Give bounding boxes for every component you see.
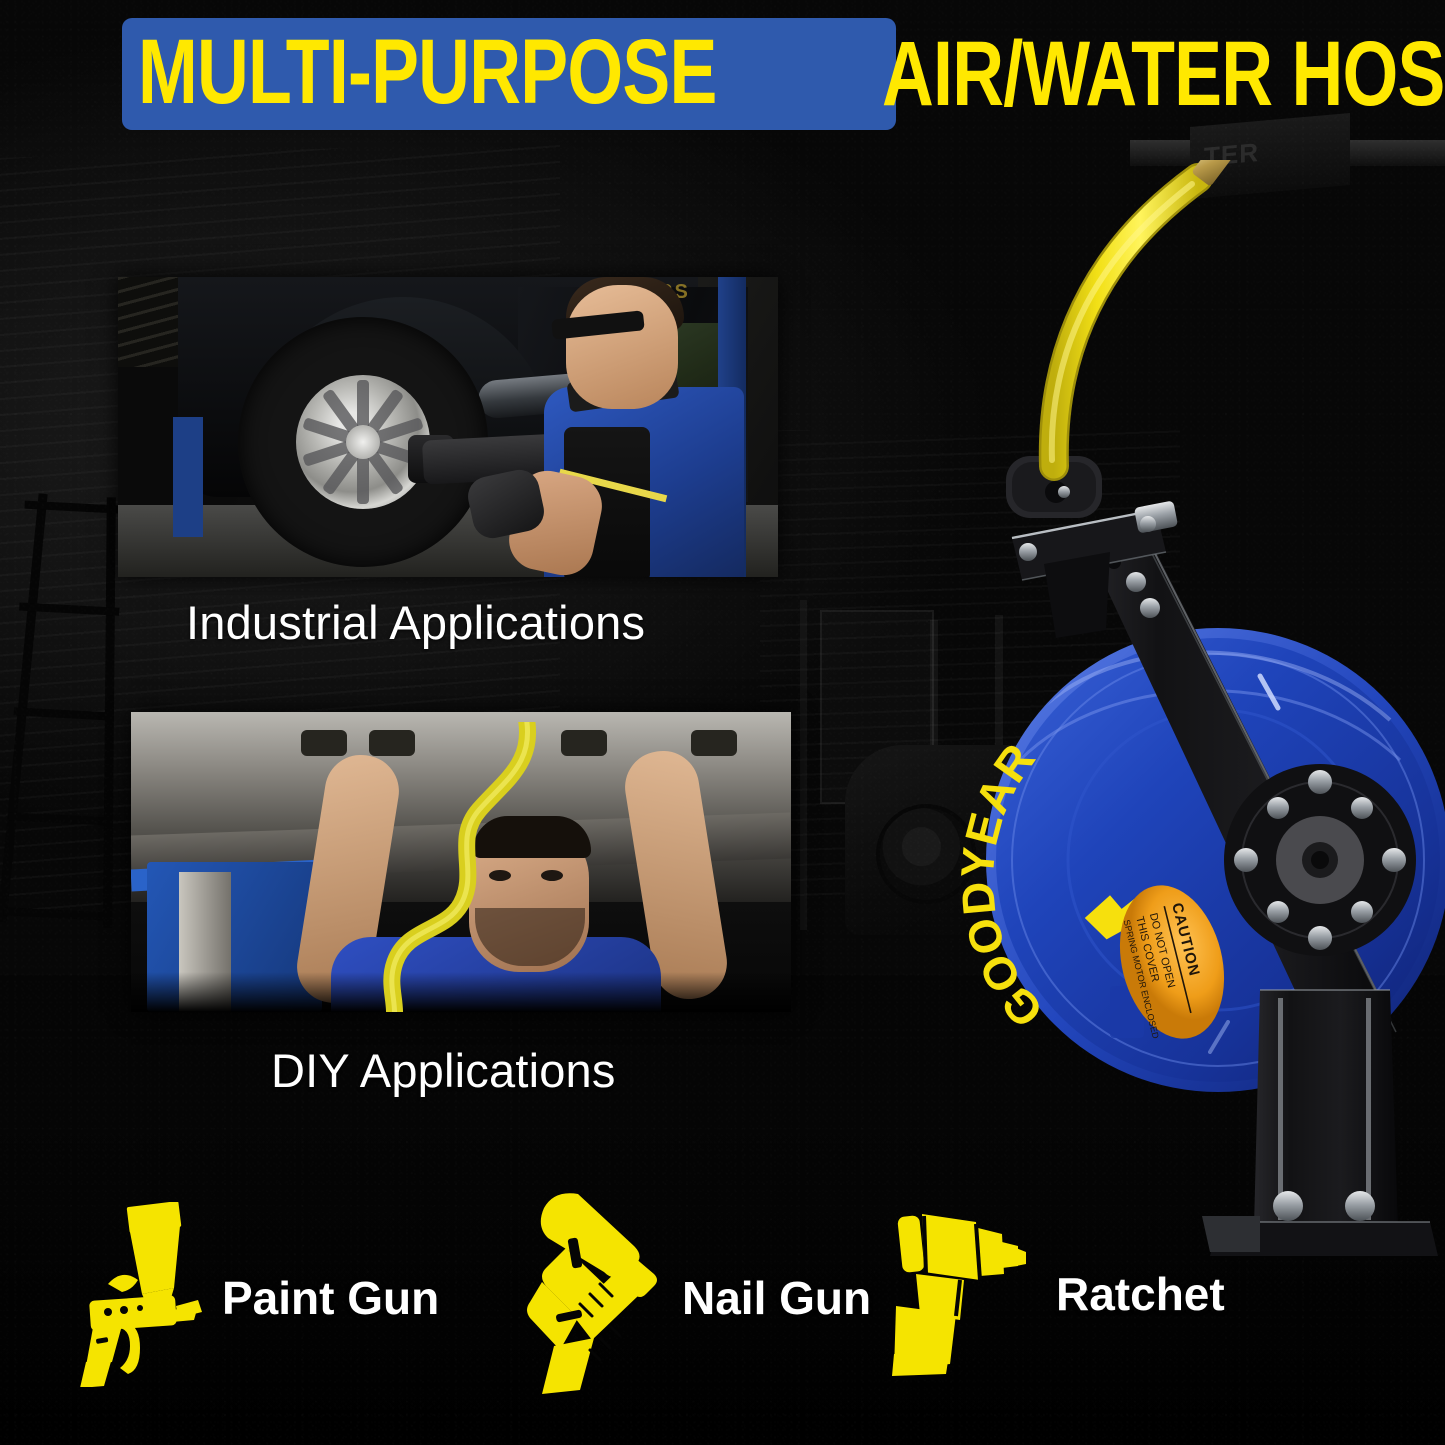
background-vehicle-wheel xyxy=(880,808,972,900)
tool-label-paint-gun: Paint Gun xyxy=(222,1271,439,1325)
compatible-tools-row: Paint Gun xyxy=(0,1177,1445,1407)
tool-label-nail-gun: Nail Gun xyxy=(682,1271,871,1325)
tool-item-nail-gun: Nail Gun xyxy=(520,1190,871,1395)
caption-industrial: Industrial Applications xyxy=(186,595,645,650)
product-hose-reel: GOODYEAR CAUTION DO NOT OPEN THIS COVER … xyxy=(960,160,1445,1280)
reel-hub xyxy=(1224,764,1416,956)
tool-item-ratchet: Ratchet xyxy=(880,1202,1225,1377)
background-ladder xyxy=(0,492,129,927)
photo-diy-applications xyxy=(131,712,791,1012)
title-badge-text: MULTI-PURPOSE xyxy=(138,28,717,116)
photo-industrial-applications: RS xyxy=(118,277,778,577)
title-rest-text: AIR/WATER HOSE xyxy=(882,22,1445,127)
page-title: MULTI-PURPOSE AIR/WATER HOSE xyxy=(122,18,1445,130)
ratchet-icon xyxy=(880,1202,1030,1377)
caption-diy: DIY Applications xyxy=(271,1043,616,1098)
tool-item-paint-gun: Paint Gun xyxy=(68,1202,439,1387)
title-badge: MULTI-PURPOSE xyxy=(122,18,896,130)
background-post-1 xyxy=(800,600,807,930)
product-hose xyxy=(1052,178,1198,466)
header: MULTI-PURPOSE AIR/WATER HOSE xyxy=(0,0,1445,180)
nail-gun-icon xyxy=(520,1190,670,1395)
tool-label-ratchet: Ratchet xyxy=(1056,1267,1225,1321)
paint-gun-icon xyxy=(68,1202,208,1387)
product-marketing-image: TER MULTI-PURPOSE AIR/WATER HOSE RS xyxy=(0,0,1445,1445)
